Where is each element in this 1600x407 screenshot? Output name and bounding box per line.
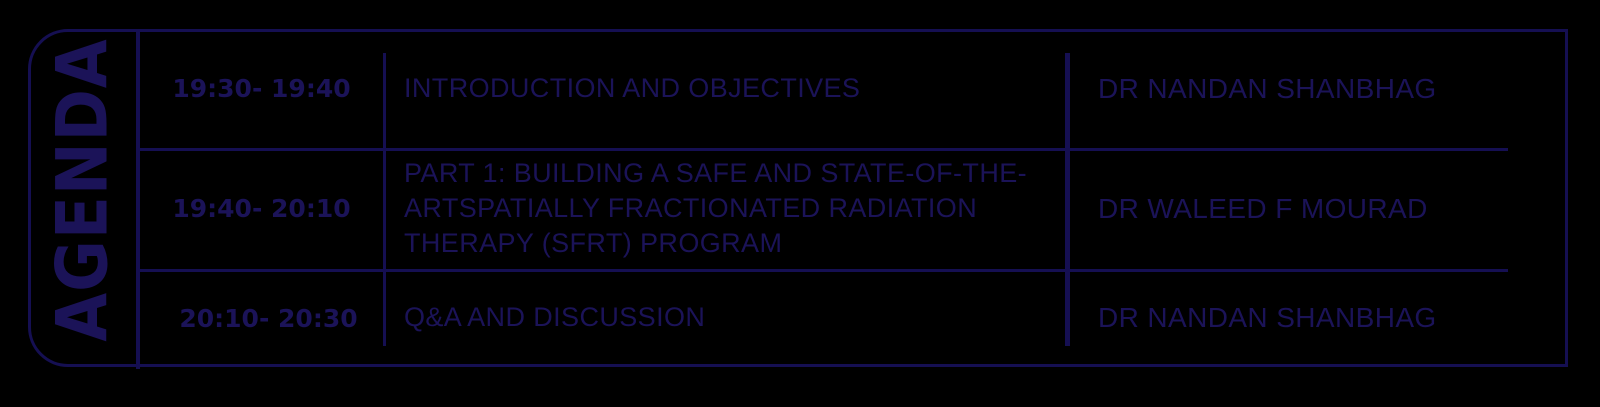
- speaker-text: DR NANDAN SHANBHAG: [1098, 73, 1437, 105]
- topic-text: INTRODUCTION AND OBJECTIVES: [404, 71, 860, 106]
- topic-text: Q&A AND DISCUSSION: [404, 300, 705, 335]
- time-text: 20:10- 20:30: [165, 304, 357, 333]
- table-row: 19:40- 20:10 PART 1: BUILDING A SAFE AND…: [140, 148, 1568, 269]
- cell-speaker: DR NANDAN SHANBHAG: [1070, 29, 1568, 148]
- cell-speaker: DR NANDAN SHANBHAG: [1070, 269, 1568, 367]
- cell-time: 20:10- 20:30: [140, 269, 383, 367]
- speaker-text: DR NANDAN SHANBHAG: [1098, 302, 1437, 334]
- speaker-text: DR WALEED F MOURAD: [1098, 193, 1428, 225]
- time-text: 19:40- 20:10: [172, 194, 350, 223]
- cell-speaker: DR WALEED F MOURAD: [1070, 148, 1568, 269]
- cell-time: 19:40- 20:10: [140, 148, 383, 269]
- cell-topic: Q&A AND DISCUSSION: [386, 269, 1065, 367]
- topic-text: PART 1: BUILDING A SAFE AND STATE-OF-THE…: [404, 156, 1057, 261]
- cell-time: 19:30- 19:40: [140, 29, 383, 148]
- table-row: 20:10- 20:30 Q&A AND DISCUSSION DR NANDA…: [140, 269, 1568, 367]
- table-row: 19:30- 19:40 INTRODUCTION AND OBJECTIVES…: [140, 29, 1568, 148]
- cell-topic: INTRODUCTION AND OBJECTIVES: [386, 29, 1065, 148]
- cell-topic: PART 1: BUILDING A SAFE AND STATE-OF-THE…: [386, 148, 1065, 269]
- agenda-slide: AGENDA 19:30- 19:40 INTRODUCTION AND OBJ…: [0, 0, 1600, 407]
- agenda-table: 19:30- 19:40 INTRODUCTION AND OBJECTIVES…: [140, 29, 1568, 367]
- time-text: 19:30- 19:40: [172, 74, 350, 103]
